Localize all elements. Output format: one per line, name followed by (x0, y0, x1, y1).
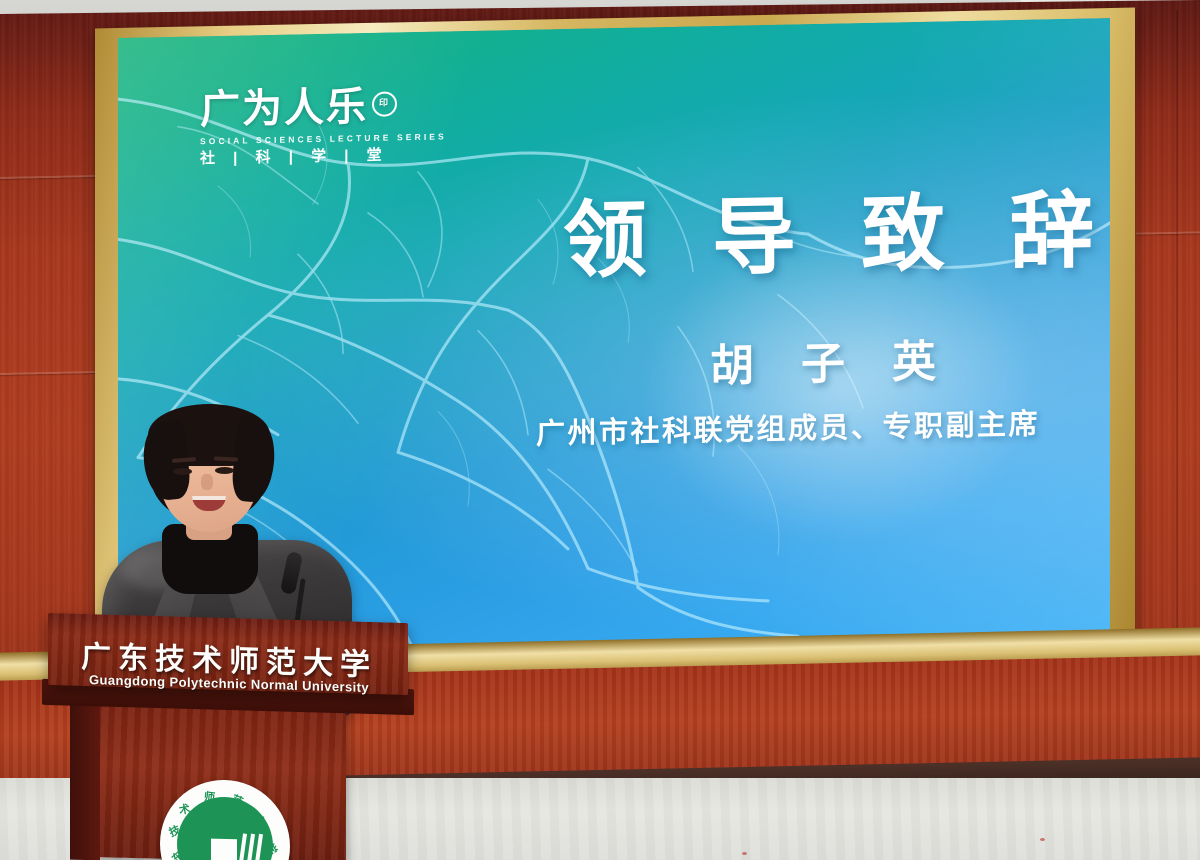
university-emblem: 广 东 技 术 师 范 大 学 (160, 779, 290, 860)
logo-wordmark: 广为人乐印 (200, 83, 440, 132)
speaker-nose (201, 474, 213, 490)
logo-chinese-subtitle: 社 | 科 | 学 | 堂 (200, 142, 440, 168)
speaker-name: 胡 子 英 (710, 337, 954, 392)
floor-mark (1040, 838, 1045, 841)
podium-side (70, 700, 100, 860)
speaker-role: 广州市社科联党组成员、专职副主席 (536, 407, 1040, 451)
speaker-hair-side-right (231, 418, 278, 503)
speaker-eye-right (215, 467, 234, 474)
emblem-tower-icon (211, 839, 237, 860)
logo-seal-icon: 印 (372, 91, 397, 117)
logo-wordmark-text: 广为人乐 (200, 84, 368, 132)
lecture-hall-photo: 广为人乐印 SOCIAL SCIENCES LECTURE SERIES 社 |… (0, 0, 1200, 860)
speaker-eye-left (173, 468, 192, 475)
floor-mark (742, 852, 747, 855)
slide-title: 领 导 致 辞 (563, 186, 1110, 289)
lecture-series-logo: 广为人乐印 SOCIAL SCIENCES LECTURE SERIES 社 |… (200, 83, 440, 168)
